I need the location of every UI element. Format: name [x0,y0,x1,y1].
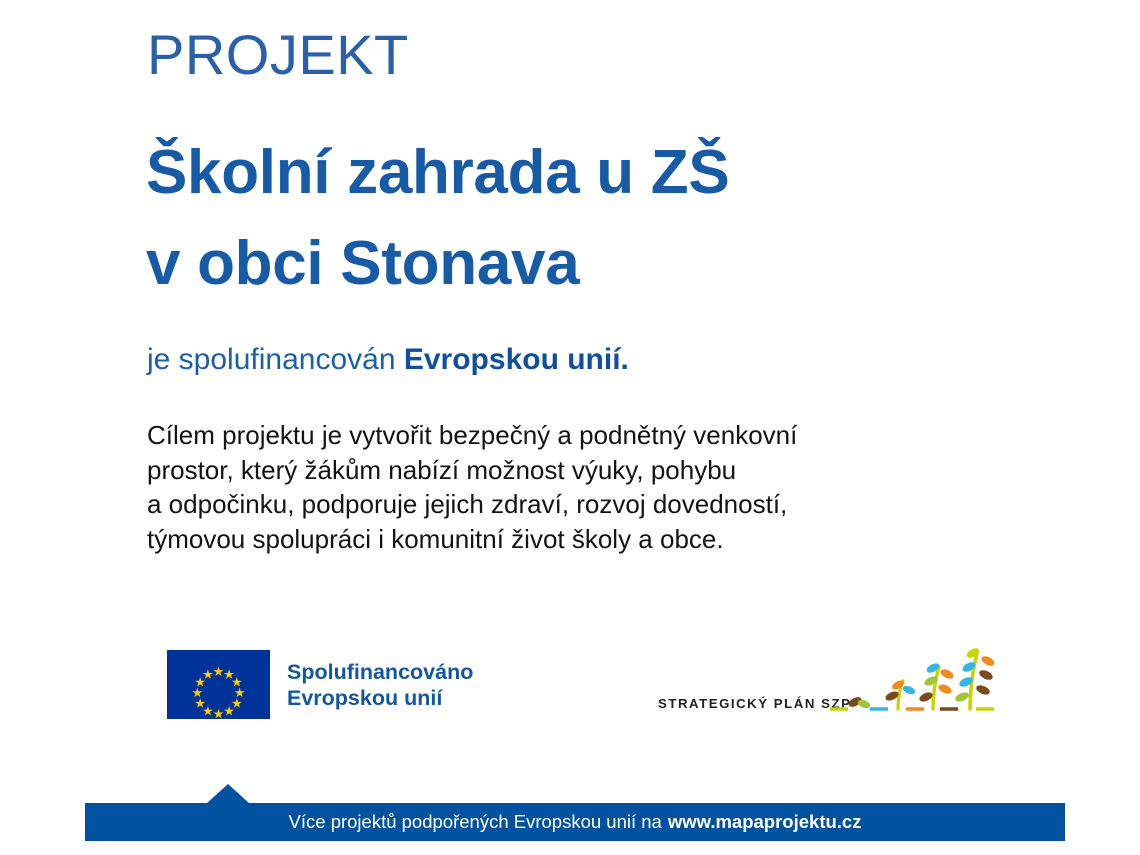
poster-canvas: PROJEKT Školní zahrada u ZŠ v obci Stona… [0,0,1140,855]
footer-notch-triangle [206,784,250,804]
eu-caption-line-2: Evropskou unií [287,685,473,711]
eu-caption-line-1: Spolufinancováno [287,659,473,685]
description-line-3: a odpočinku, podporuje jejich zdraví, ro… [147,487,977,522]
footer-url-link[interactable]: www.mapaprojektu.cz [668,811,862,833]
page-title-line-1: Školní zahrada u ZŠ [146,128,926,219]
sprout-1 [847,695,871,710]
funding-subtitle-emphasis: Evropskou unií. [404,343,629,376]
eyebrow-label: PROJEKT [147,27,409,83]
footer-message: Více projektů podpořených Evropskou unií… [85,803,1065,841]
eu-cofinancing-logo: Spolufinancováno Evropskou unií [167,650,473,719]
szp-strategic-plan-logo: STRATEGICKÝ PLÁN SZP [658,641,998,723]
funding-subtitle-lead: je spolufinancován [147,343,404,376]
footer-lead-text: Více projektů podpořených Evropskou unií… [289,811,662,833]
description-line-4: týmovou spolupráci i komunitní život ško… [147,522,977,557]
eu-flag-icon [167,650,270,719]
sprout-2 [884,679,916,709]
growing-plants-icon [828,641,998,723]
page-title: Školní zahrada u ZŠ v obci Stonava [146,128,926,309]
footer-bar: Více projektů podpořených Evropskou unií… [85,803,1065,841]
description-line-2: prostor, který žákům nabízí možnost výuk… [147,453,977,488]
sprout-4 [954,646,996,709]
eu-logo-caption: Spolufinancováno Evropskou unií [287,659,473,711]
description-line-1: Cílem projektu je vytvořit bezpečný a po… [147,418,977,453]
szp-logo-text: STRATEGICKÝ PLÁN SZP [658,696,851,711]
project-description: Cílem projektu je vytvořit bezpečný a po… [147,418,977,556]
page-title-line-2: v obci Stonava [146,219,926,310]
sprout-3 [918,661,955,709]
funding-subtitle: je spolufinancován Evropskou unií. [147,342,629,378]
